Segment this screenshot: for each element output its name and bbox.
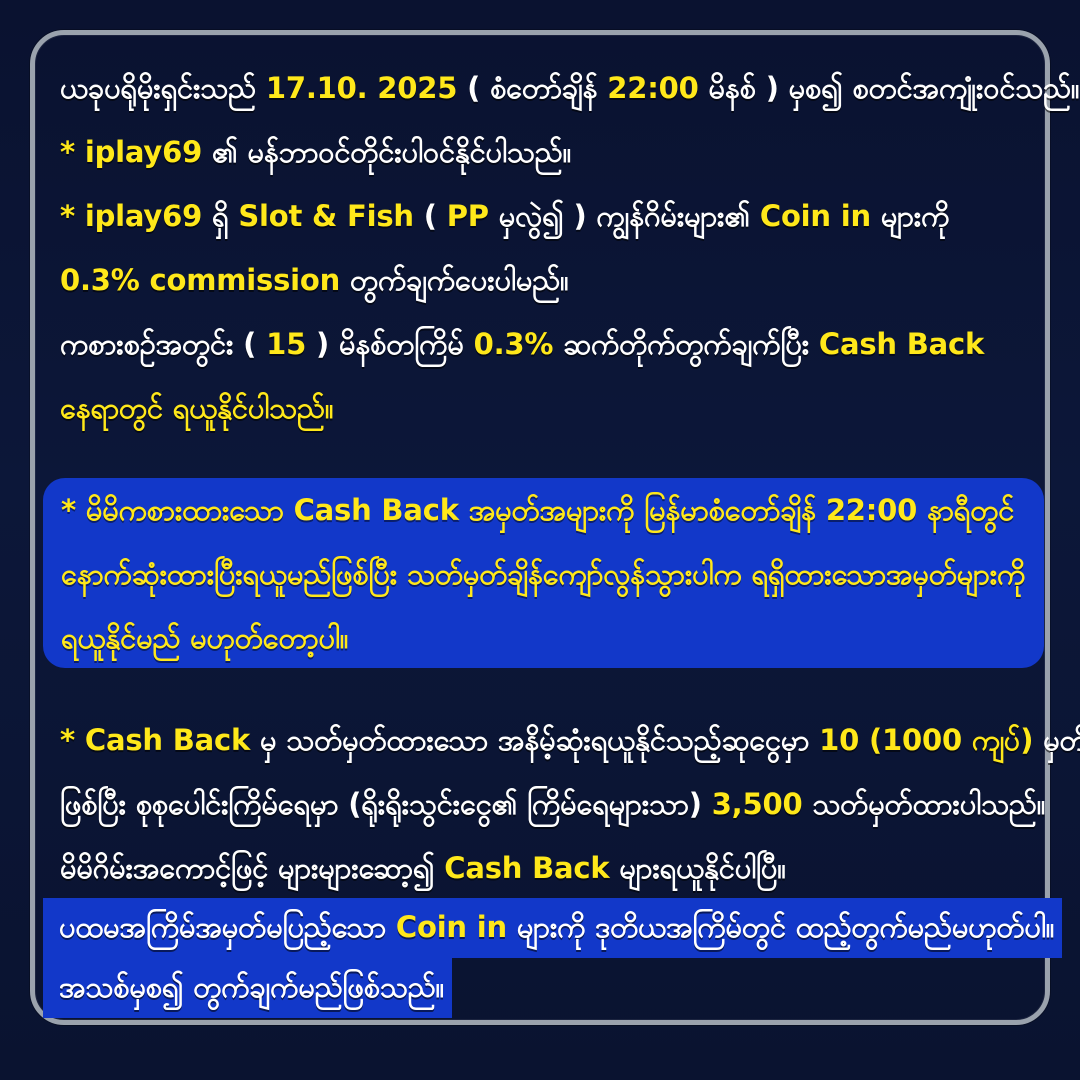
coin-in-note-line: ပထမအကြိမ်အမှတ်မပြည့်သော Coin in များကို … (43, 898, 1062, 958)
lower-line-3: မိမိဂိမ်းအကောင့်ဖြင့် များများဆော့၍ Cash… (60, 836, 1080, 900)
poster-content: ယခုပရိုမိုးရှင်းသည် 17.10. 2025 ( စံတော်… (52, 56, 1048, 1004)
panel-line-3: ရယူနိုင်မည် မဟုတ်တော့ပါ။ (61, 606, 1025, 670)
lower-line-1: * Cash Back မှ သတ်မှတ်ထားသော အနိမ့်ဆုံးရ… (60, 708, 1080, 772)
panel-line-2: နောက်ဆုံးထားပြီးရယူမည်ဖြစ်ပြီး သတ်မှတ်ချ… (61, 542, 1025, 606)
recalculation-note-text: အသစ်မှစ၍ တွက်ချက်မည်ဖြစ်သည်။ (43, 958, 452, 1018)
intro-line-3: * iplay69 ရှိ Slot & Fish ( PP မှလွဲ၍ ) … (60, 184, 1079, 248)
recalculation-note-line: အသစ်မှစ၍ တွက်ချက်မည်ဖြစ်သည်။ (43, 958, 452, 1018)
cashback-deadline-text: * မိမိကစားထားသော Cash Back အမှတ်အများကို… (61, 478, 1025, 670)
intro-line-6: နေရာတွင် ရယူနိုင်ပါသည်။ (60, 376, 1079, 440)
cashback-deadline-panel: * မိမိကစားထားသော Cash Back အမှတ်အများကို… (43, 478, 1044, 668)
payout-paragraph: * Cash Back မှ သတ်မှတ်ထားသော အနိမ့်ဆုံးရ… (60, 708, 1080, 900)
lower-line-2: ဖြစ်ပြီး စုစုပေါင်းကြိမ်ရေမှာ (ရိုးရိုးသ… (60, 772, 1080, 836)
intro-line-1: ယခုပရိုမိုးရှင်းသည် 17.10. 2025 ( စံတော်… (60, 56, 1079, 120)
intro-line-5: ကစားစဉ်အတွင်း ( 15 ) မိနစ်တကြိမ် 0.3% ဆက… (60, 312, 1079, 376)
panel-line-1: * မိမိကစားထားသော Cash Back အမှတ်အများကို… (61, 478, 1025, 542)
intro-line-4: 0.3% commission တွက်ချက်ပေးပါမည်။ (60, 248, 1079, 312)
promo-poster: ယခုပရိုမိုးရှင်းသည် 17.10. 2025 ( စံတော်… (0, 0, 1080, 1080)
intro-paragraph: ယခုပရိုမိုးရှင်းသည် 17.10. 2025 ( စံတော်… (60, 56, 1079, 440)
coin-in-note-text: ပထမအကြိမ်အမှတ်မပြည့်သော Coin in များကို … (43, 898, 1062, 958)
intro-line-2: * iplay69 ၏ မန်ဘာဝင်တိုင်းပါဝင်နိုင်ပါသည… (60, 120, 1079, 184)
